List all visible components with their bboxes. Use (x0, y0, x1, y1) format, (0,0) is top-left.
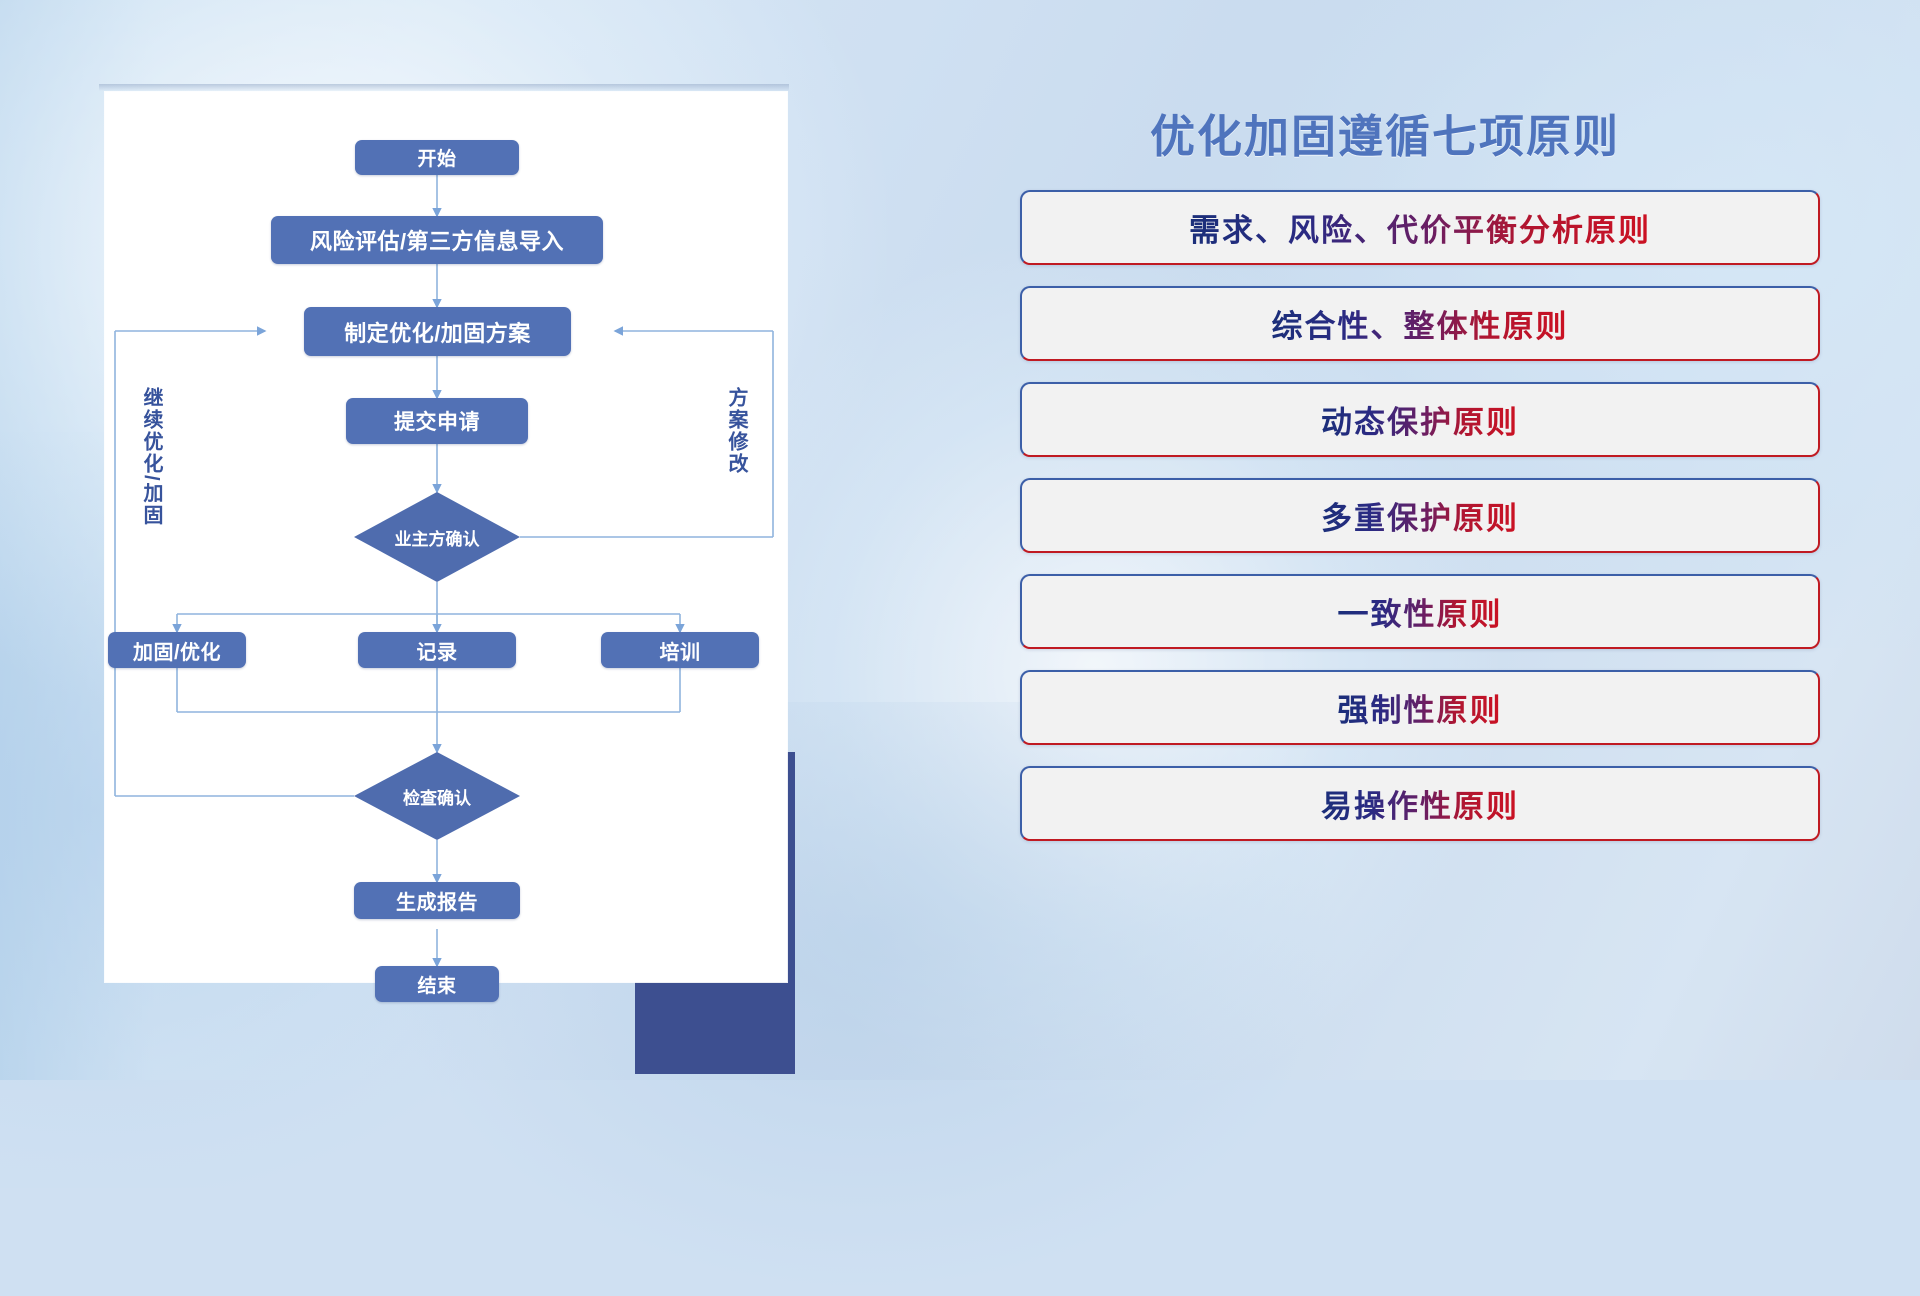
principle-label: 综合性、整体性原则 (1272, 301, 1569, 346)
flow-node-label: 加固/优化 (133, 636, 221, 665)
flow-node-end[interactable]: 结束 (375, 966, 499, 1002)
principle-item-5[interactable]: 一致性原则 (1020, 574, 1820, 649)
flow-node-owner-confirm[interactable]: 业主方确认 (354, 492, 520, 582)
principle-label: 易操作性原则 (1321, 781, 1519, 826)
flow-node-training[interactable]: 培训 (601, 632, 759, 668)
flow-node-label: 培训 (660, 636, 701, 665)
flow-node-risk-assessment[interactable]: 风险评估/第三方信息导入 (271, 216, 603, 264)
flow-node-label: 开始 (417, 144, 456, 171)
principle-label: 需求、风险、代价平衡分析原则 (1189, 205, 1651, 250)
flow-node-reinforce[interactable]: 加固/优化 (108, 632, 246, 668)
flow-node-check-confirm[interactable]: 检查确认 (354, 752, 520, 840)
principle-item-2[interactable]: 综合性、整体性原则 (1020, 286, 1820, 361)
principle-item-7[interactable]: 易操作性原则 (1020, 766, 1820, 841)
principle-label: 一致性原则 (1338, 589, 1503, 634)
flow-node-plan[interactable]: 制定优化/加固方案 (304, 307, 571, 356)
flowchart-card: 开始 风险评估/第三方信息导入 制定优化/加固方案 提交申请 业主方确认 加固/… (105, 92, 787, 982)
principle-label: 多重保护原则 (1321, 493, 1519, 538)
principle-item-4[interactable]: 多重保护原则 (1020, 478, 1820, 553)
principles-panel: 优化加固遵循七项原则 需求、风险、代价平衡分析原则 综合性、整体性原则 动态保护… (1020, 80, 1850, 1030)
principle-item-1[interactable]: 需求、风险、代价平衡分析原则 (1020, 190, 1820, 265)
page-title: 优化加固遵循七项原则 (1150, 100, 1620, 165)
flow-node-label: 制定优化/加固方案 (344, 316, 531, 348)
flow-node-start[interactable]: 开始 (355, 140, 519, 175)
principle-label: 动态保护原则 (1321, 397, 1519, 442)
flow-node-label: 生成报告 (396, 886, 478, 915)
flow-node-label: 风险评估/第三方信息导入 (310, 224, 564, 256)
flow-node-label: 记录 (417, 636, 458, 665)
flow-node-label: 检查确认 (403, 784, 471, 809)
flow-node-generate-report[interactable]: 生成报告 (354, 882, 520, 919)
edge-label-plan-revision: 方案修改 (725, 387, 746, 475)
flowchart-panel: 开始 风险评估/第三方信息导入 制定优化/加固方案 提交申请 业主方确认 加固/… (105, 92, 795, 982)
principle-label: 强制性原则 (1338, 685, 1503, 730)
flow-node-label: 结束 (417, 971, 456, 998)
flow-node-label: 提交申请 (394, 406, 480, 436)
flow-node-label: 业主方确认 (395, 525, 480, 550)
flow-node-record[interactable]: 记录 (358, 632, 516, 668)
principle-item-6[interactable]: 强制性原则 (1020, 670, 1820, 745)
flow-node-submit-application[interactable]: 提交申请 (346, 398, 528, 444)
principle-item-3[interactable]: 动态保护原则 (1020, 382, 1820, 457)
principle-list: 需求、风险、代价平衡分析原则 综合性、整体性原则 动态保护原则 多重保护原则 一… (1020, 190, 1820, 862)
edge-label-continue-optimize: 继续优化/加固 (140, 387, 161, 527)
